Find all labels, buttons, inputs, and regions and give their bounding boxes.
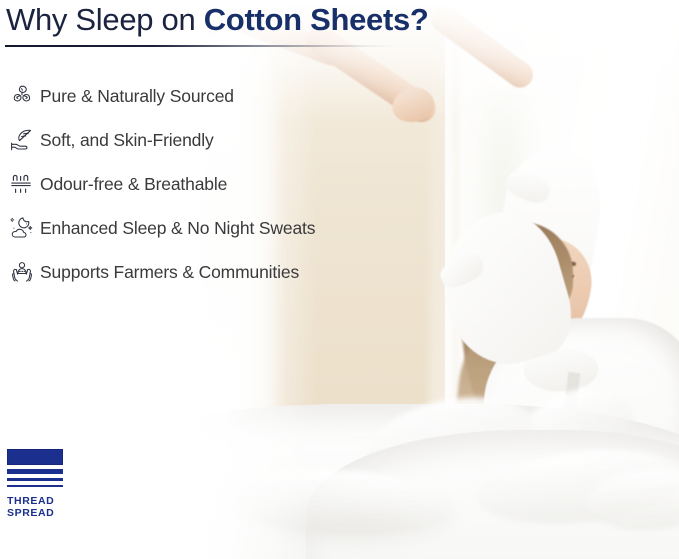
feature-list: Pure & Naturally Sourced Soft, and Skin-… — [0, 74, 420, 294]
page-title-regular: Why Sleep on — [6, 2, 204, 37]
list-item: Soft, and Skin-Friendly — [0, 118, 420, 162]
logo-bar — [7, 449, 63, 465]
content-overlay: Why Sleep on Cotton Sheets? Pure & — [0, 0, 679, 559]
logo-bar — [7, 485, 63, 487]
logo-bar — [7, 469, 63, 474]
moon-night-icon — [0, 211, 40, 245]
list-item-label: Odour-free & Breathable — [40, 173, 227, 195]
logo-wordmark: THREAD SPREAD — [7, 496, 69, 519]
list-item-label: Soft, and Skin-Friendly — [40, 129, 214, 151]
airflow-breathable-icon — [0, 167, 40, 201]
hand-feather-icon — [0, 123, 40, 157]
logo-wordmark-line2: SPREAD — [7, 508, 69, 520]
list-item: Pure & Naturally Sourced — [0, 74, 420, 118]
list-item-label: Pure & Naturally Sourced — [40, 85, 234, 107]
logo-mark — [7, 449, 63, 487]
list-item: Odour-free & Breathable — [0, 162, 420, 206]
title-divider — [5, 45, 395, 47]
list-item-label: Supports Farmers & Communities — [40, 261, 299, 283]
list-item: Supports Farmers & Communities — [0, 250, 420, 294]
marketing-infographic: Why Sleep on Cotton Sheets? Pure & — [0, 0, 679, 559]
list-item: Enhanced Sleep & No Night Sweats — [0, 206, 420, 250]
page-title-accent: Cotton Sheets? — [204, 2, 429, 37]
page-title: Why Sleep on Cotton Sheets? — [6, 1, 429, 39]
hands-community-icon — [0, 255, 40, 289]
brand-logo[interactable]: THREAD SPREAD — [7, 449, 69, 519]
cotton-boll-leaves-icon — [0, 79, 40, 113]
list-item-label: Enhanced Sleep & No Night Sweats — [40, 217, 315, 239]
logo-bar — [7, 478, 63, 481]
logo-wordmark-line1: THREAD — [7, 496, 69, 508]
